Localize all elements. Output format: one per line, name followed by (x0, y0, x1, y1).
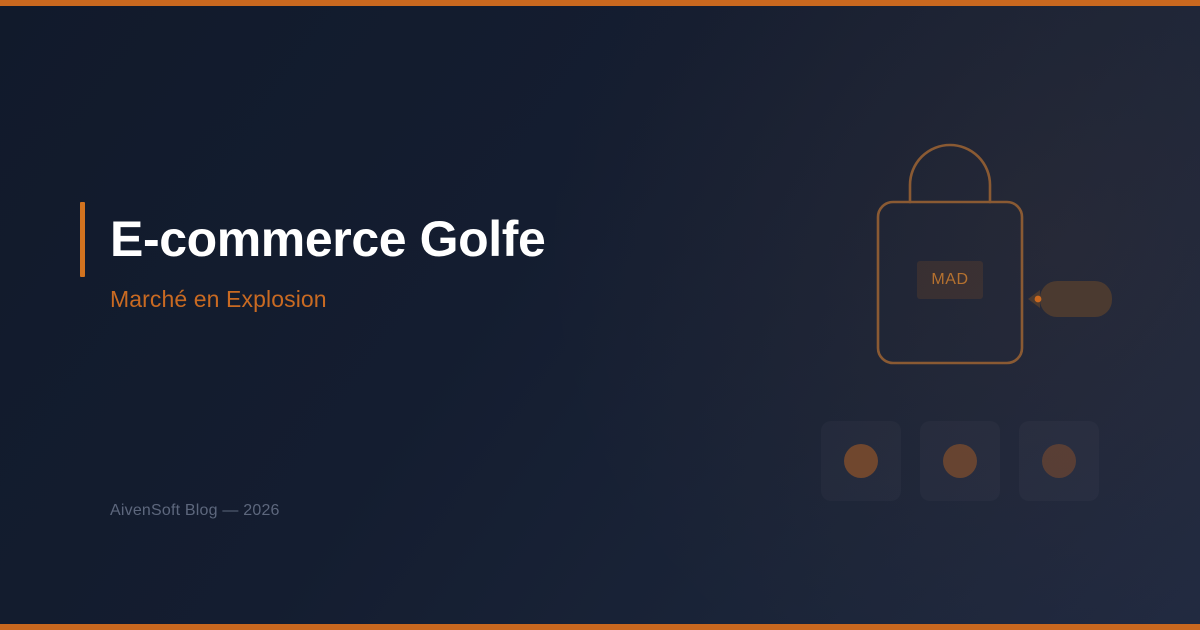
title-accent-bar (80, 202, 85, 277)
price-tag-hole-icon (1035, 296, 1042, 303)
product-card-2 (920, 421, 1000, 501)
bag-handle-icon (910, 145, 990, 202)
hero-banner: E-commerce Golfe Marché en Explosion Aiv… (0, 0, 1200, 630)
product-dot-icon (844, 444, 878, 478)
title-row: E-commerce Golfe (80, 202, 545, 277)
footer-credit: AivenSoft Blog — 2026 (110, 502, 280, 520)
top-accent-rule (0, 0, 1200, 6)
bag-currency-badge: MAD (917, 261, 983, 299)
page-subtitle: Marché en Explosion (110, 286, 545, 313)
product-dot-icon (943, 444, 977, 478)
bottom-accent-rule (0, 624, 1200, 630)
product-card-3 (1019, 421, 1099, 501)
product-dot-icon (1042, 444, 1076, 478)
page-title: E-commerce Golfe (110, 202, 545, 277)
product-card-1 (821, 421, 901, 501)
hero-text-block: E-commerce Golfe Marché en Explosion (80, 202, 545, 313)
price-tag-body-icon (1040, 281, 1112, 317)
product-card-row (821, 421, 1099, 501)
